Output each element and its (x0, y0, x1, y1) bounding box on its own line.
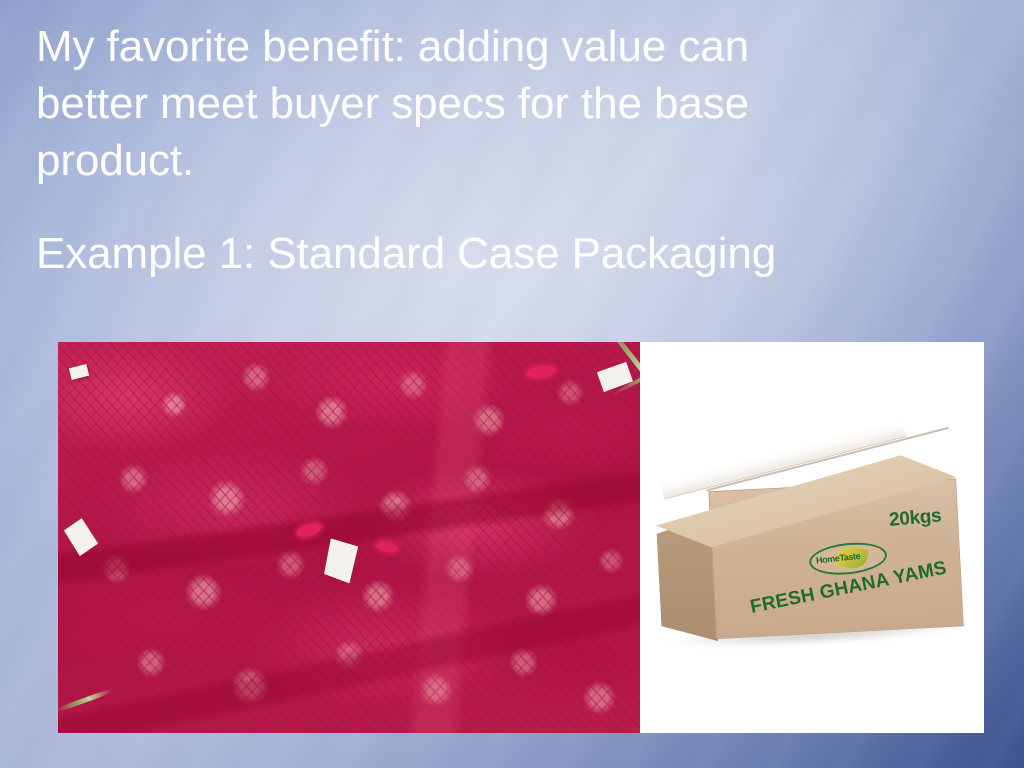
presentation-slide: My favorite benefit: adding value can be… (0, 0, 1024, 768)
onion-sack-seams (58, 342, 640, 733)
carton-illustration: 20kgs HomeTaste FRESH GHANA YAMS (649, 450, 977, 666)
title-line-1: My favorite benefit: adding value can (36, 18, 936, 75)
title-line-2: better meet buyer specs for the base (36, 75, 936, 132)
slide-text-block: My favorite benefit: adding value can be… (36, 18, 936, 282)
subtitle-example-heading: Example 1: Standard Case Packaging (36, 225, 936, 282)
image-onion-sacks (58, 342, 640, 733)
carton-weight-label: 20kgs (888, 505, 942, 531)
title-line-3: product. (36, 132, 936, 189)
image-carton-box: 20kgs HomeTaste FRESH GHANA YAMS (640, 342, 984, 733)
